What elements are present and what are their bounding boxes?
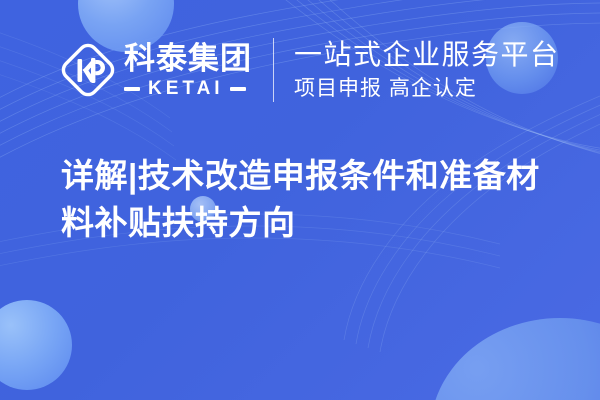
tagline-group: 一站式企业服务平台 项目申报 高企认定	[294, 38, 560, 103]
brand-dash-right-icon	[230, 87, 246, 91]
header-divider	[273, 38, 274, 102]
ketai-diamond-kp-monogram-icon	[57, 39, 119, 101]
brand-logo: 科泰集团 KETAI	[57, 39, 252, 101]
promo-banner: 科泰集团 KETAI 一站式企业服务平台 项目申报 高企认定 详解|技术改造申报…	[0, 0, 600, 400]
decor-blob-corner	[430, 318, 600, 400]
page-title: 详解|技术改造申报条件和准备材料补贴扶持方向	[61, 152, 543, 246]
banner-header: 科泰集团 KETAI 一站式企业服务平台 项目申报 高企认定	[0, 0, 600, 140]
brand-name-cn: 科泰集团	[124, 42, 252, 76]
decor-blob-bottom-left	[0, 300, 72, 390]
brand-wordmark: 科泰集团 KETAI	[124, 42, 252, 99]
headline-block: 详解|技术改造申报条件和准备材料补贴扶持方向	[61, 152, 543, 246]
tagline-primary: 一站式企业服务平台	[294, 38, 560, 72]
tagline-secondary: 项目申报 高企认定	[294, 75, 560, 103]
brand-name-en-row: KETAI	[124, 79, 252, 99]
brand-name-en: KETAI	[148, 79, 224, 99]
brand-dash-left-icon	[124, 87, 140, 91]
